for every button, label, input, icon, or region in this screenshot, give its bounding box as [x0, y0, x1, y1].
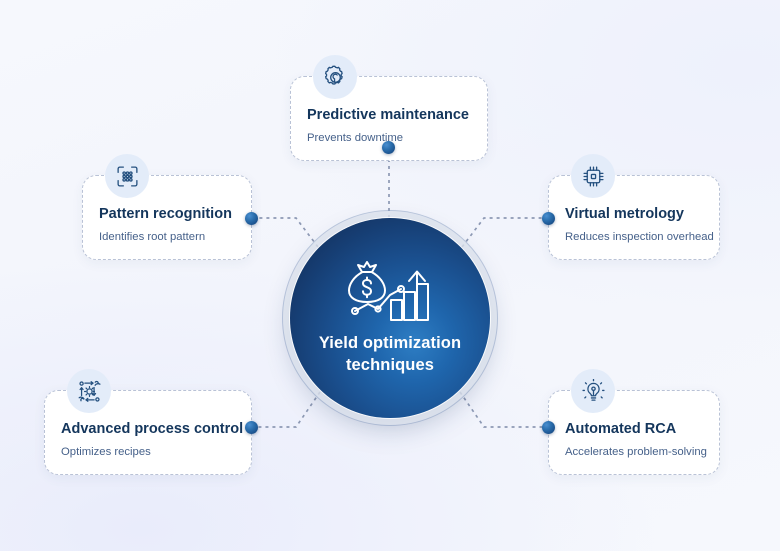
wire-virtual: [462, 218, 548, 247]
node-subtitle: Reduces inspection overhead: [565, 230, 703, 244]
connector-dot-automated-rca: [542, 421, 555, 434]
node-title: Advanced process control: [61, 421, 235, 438]
node-title: Pattern recognition: [99, 206, 235, 223]
connector-dot-pattern-recognition: [245, 212, 258, 225]
lightbulb-idea-icon: [571, 369, 615, 413]
node-card-advanced-process-control[interactable]: Advanced process control Optimizes recip…: [44, 390, 252, 475]
microchip-icon: [571, 154, 615, 198]
connector-dot-predictive-maintenance: [382, 141, 395, 154]
node-subtitle: Optimizes recipes: [61, 445, 235, 459]
hub-title: Yield optimization techniques: [315, 333, 465, 377]
node-subtitle: Identifies root pattern: [99, 230, 235, 244]
connector-dot-virtual-metrology: [542, 212, 555, 225]
money-bag-growth-chart-icon: [344, 259, 436, 323]
node-card-virtual-metrology[interactable]: Virtual metrology Reduces inspection ove…: [548, 175, 720, 260]
node-card-pattern-recognition[interactable]: Pattern recognition Identifies root patt…: [82, 175, 252, 260]
wire-pattern: [252, 218, 318, 247]
wire-apc: [252, 392, 320, 427]
pattern-scan-grid-icon: [105, 154, 149, 198]
gear-wrench-icon: [313, 55, 357, 99]
node-title: Predictive maintenance: [307, 107, 471, 124]
wire-rca: [460, 392, 548, 427]
node-title: Virtual metrology: [565, 206, 703, 223]
process-workflow-gear-icon: [67, 369, 111, 413]
connector-dot-advanced-process-control: [245, 421, 258, 434]
node-card-automated-rca[interactable]: Automated RCA Accelerates problem-solvin…: [548, 390, 720, 475]
hub-node[interactable]: Yield optimization techniques: [290, 218, 490, 418]
diagram-canvas: Yield optimization techniques Predictive…: [0, 0, 780, 551]
node-subtitle: Accelerates problem-solving: [565, 445, 703, 459]
node-title: Automated RCA: [565, 421, 703, 438]
